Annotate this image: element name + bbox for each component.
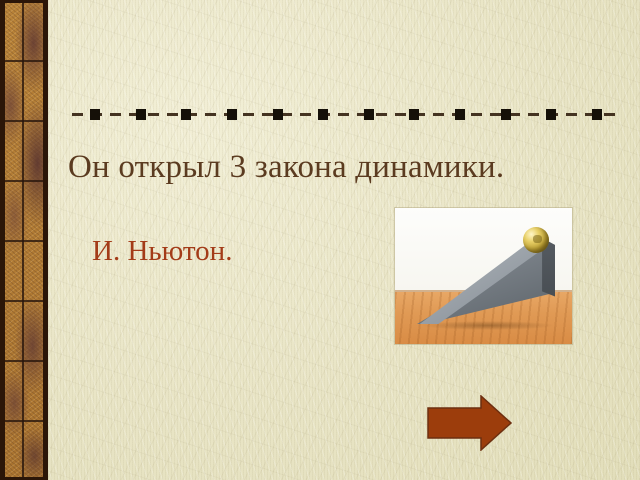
divider-square-marker (546, 109, 556, 120)
arrow-right-icon[interactable] (427, 395, 512, 451)
divider-markers (72, 109, 620, 121)
divider-square-marker (501, 109, 511, 120)
divider-square-marker (592, 109, 602, 120)
divider-square-marker (90, 109, 100, 120)
divider-square-marker (273, 109, 283, 120)
dashed-divider-rule (72, 109, 620, 121)
divider-square-marker (136, 109, 146, 120)
photo-brass-ball-highlight (533, 235, 542, 243)
divider-square-marker (364, 109, 374, 120)
wood-parquet-strip (0, 0, 48, 480)
wood-strip-frame (0, 0, 48, 480)
slide-answer: И. Ньютон. (92, 232, 232, 270)
inclined-plane-photo (395, 208, 572, 344)
divider-square-marker (181, 109, 191, 120)
divider-square-marker (227, 109, 237, 120)
photo-wedge-shadow (423, 321, 553, 330)
divider-square-marker (455, 109, 465, 120)
slide-canvas: Он открыл 3 закона динамики. И. Ньютон. (0, 0, 640, 480)
next-slide-arrow-button[interactable] (427, 395, 512, 451)
divider-square-marker (409, 109, 419, 120)
slide-headline: Он открыл 3 закона динамики. (68, 146, 608, 188)
divider-square-marker (318, 109, 328, 120)
